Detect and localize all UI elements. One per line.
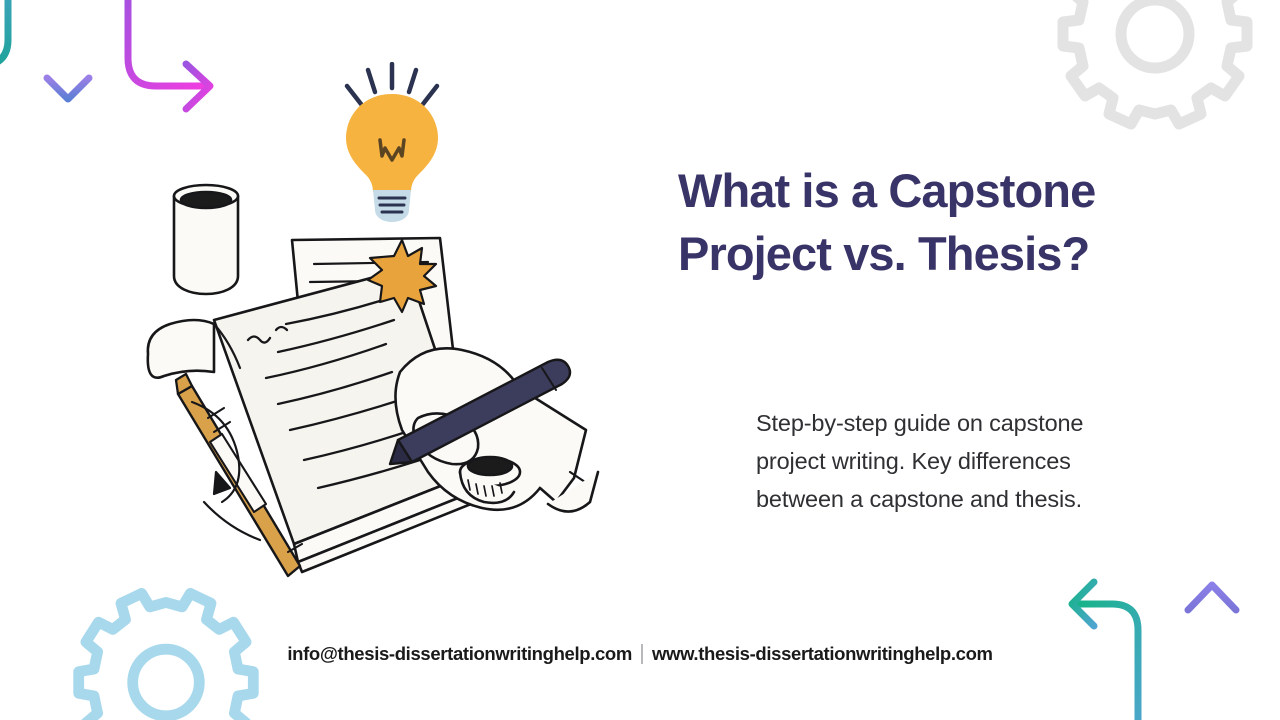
- footer-contact-bar: info@thesis-dissertationwritinghelp.com …: [0, 643, 1280, 665]
- gear-icon: [1063, 0, 1247, 124]
- writing-desk-illustration: [118, 172, 628, 622]
- page-title-line-2: Project vs. Thesis?: [678, 227, 1089, 280]
- arrow-down-icon: [47, 0, 89, 99]
- coffee-mug-icon: [174, 185, 238, 294]
- footer-website[interactable]: www.thesis-dissertationwritinghelp.com: [652, 643, 993, 665]
- footer-email[interactable]: info@thesis-dissertationwritinghelp.com: [287, 643, 632, 665]
- decoration-top-right-gear: [1030, 0, 1280, 136]
- page-subtitle: Step-by-step guide on capstone project w…: [756, 404, 1101, 518]
- curved-line-teal-icon: [0, 0, 8, 66]
- decoration-top-left-arrows: [0, 0, 250, 140]
- poster-canvas: What is a CapstoneProject vs. Thesis? St…: [0, 0, 1280, 720]
- footer-separator: [641, 644, 643, 664]
- text-column: What is a CapstoneProject vs. Thesis?: [678, 160, 1218, 285]
- page-title-line-1: What is a Capstone: [678, 164, 1095, 217]
- arrow-right-curved-icon: [128, 0, 210, 109]
- page-title: What is a CapstoneProject vs. Thesis?: [678, 160, 1218, 285]
